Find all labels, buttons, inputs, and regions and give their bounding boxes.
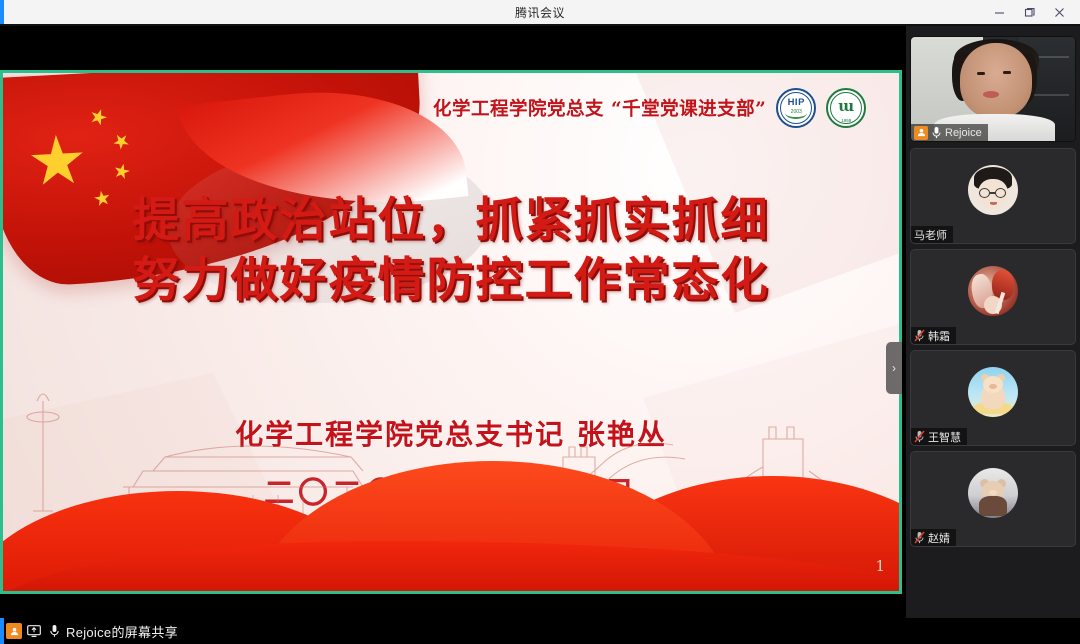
- participant-name-chip: 赵婧: [911, 529, 956, 546]
- tencent-meeting-window: 腾讯会议: [0, 0, 1080, 644]
- university-logo-year: 1958: [826, 118, 866, 123]
- minimize-button[interactable]: [984, 0, 1014, 24]
- hip-logo-icon: HIP 2003: [776, 88, 816, 128]
- participant-tile[interactable]: 王智慧: [910, 350, 1076, 446]
- microphone-muted-icon: [914, 430, 925, 443]
- participant-avatar: [968, 266, 1018, 316]
- shared-slide: 化学工程学院党总支 “千堂党课进支部” HIP 2003 ɯ 1958: [3, 73, 899, 591]
- university-logo-glyph: ɯ: [826, 97, 866, 115]
- slide-header: 化学工程学院党总支 “千堂党课进支部” HIP 2003 ɯ 1958: [433, 91, 873, 125]
- shared-screen-frame: 化学工程学院党总支 “千堂党课进支部” HIP 2003 ɯ 1958: [0, 70, 902, 594]
- hip-logo-year: 2003: [776, 109, 816, 115]
- participant-tile[interactable]: Rejoice: [910, 36, 1076, 142]
- participant-name: 赵婧: [928, 530, 950, 546]
- flag-star-small: [112, 162, 131, 181]
- screen-share-status-bar: Rejoice的屏幕共享: [0, 618, 1080, 644]
- slide-page-number: 1: [875, 557, 885, 575]
- slide-title-block: 提高政治站位，抓紧抓实抓细 努力做好疫情防控工作常态化: [3, 191, 899, 311]
- slide-footer-illustration: [3, 391, 899, 591]
- participant-name-chip: Rejoice: [911, 124, 988, 141]
- participant-avatar: [968, 367, 1018, 417]
- window-title: 腾讯会议: [515, 4, 565, 21]
- participant-name-chip: 王智慧: [911, 428, 967, 445]
- participant-avatar: [968, 468, 1018, 518]
- close-button[interactable]: [1044, 0, 1074, 24]
- participant-name: 马老师: [914, 227, 947, 243]
- bottom-accent-strip: [0, 618, 4, 644]
- title-bar: 腾讯会议: [0, 0, 1080, 24]
- flag-star-small: [88, 106, 110, 128]
- participant-name-chip: 马老师: [911, 226, 953, 243]
- participant-name-chip: 韩霜: [911, 327, 956, 344]
- participant-name: 王智慧: [928, 429, 961, 445]
- screen-share-icon[interactable]: [26, 623, 42, 639]
- expand-panel-handle[interactable]: ›: [886, 342, 902, 394]
- flag-star-small: [110, 130, 133, 153]
- maximize-button[interactable]: [1014, 0, 1044, 24]
- slide-title-line-1: 提高政治站位，抓紧抓实抓细: [3, 191, 899, 251]
- participant-name: 韩霜: [928, 328, 950, 344]
- screen-share-label: Rejoice的屏幕共享: [66, 622, 178, 641]
- university-logo-icon: ɯ 1958: [826, 88, 866, 128]
- flag-star-large: [29, 133, 86, 190]
- window-controls: [984, 0, 1074, 24]
- chevron-right-icon: ›: [892, 361, 896, 375]
- slide-header-text: 化学工程学院党总支 “千堂党课进支部”: [433, 95, 766, 121]
- participant-rail[interactable]: Rejoice 马老师: [906, 26, 1080, 618]
- meeting-stage: 化学工程学院党总支 “千堂党课进支部” HIP 2003 ɯ 1958: [0, 26, 1080, 618]
- microphone-muted-icon: [914, 531, 925, 544]
- host-badge-icon: [914, 126, 928, 140]
- participant-avatar: [968, 165, 1018, 215]
- participant-tile[interactable]: 赵婧: [910, 451, 1076, 547]
- participant-tile[interactable]: 马老师: [910, 148, 1076, 244]
- participant-name: Rejoice: [945, 127, 982, 139]
- participant-tile[interactable]: 韩霜: [910, 249, 1076, 345]
- window-accent-strip: [0, 0, 4, 24]
- host-badge-icon: [6, 623, 22, 639]
- microphone-icon[interactable]: [46, 623, 62, 639]
- microphone-icon: [931, 126, 942, 139]
- slide-title-line-2: 努力做好疫情防控工作常态化: [3, 251, 899, 311]
- microphone-muted-icon: [914, 329, 925, 342]
